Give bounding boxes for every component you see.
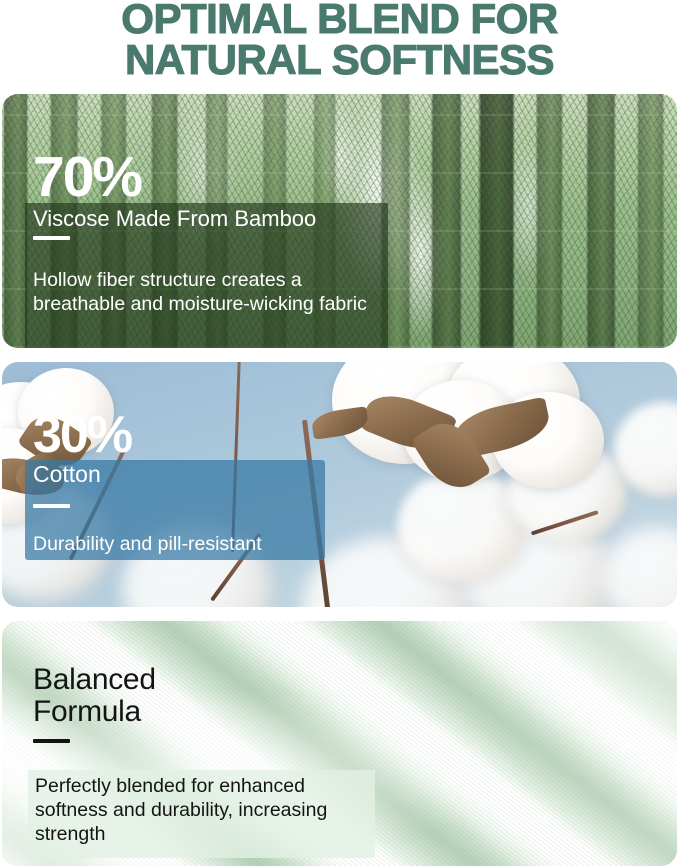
fabric-heading: Balanced Formula [33, 664, 156, 728]
cotton-description: Durability and pill-resistant [33, 533, 333, 557]
bamboo-subtitle: Viscose Made From Bamboo [33, 208, 316, 230]
bamboo-percent: 70% [33, 149, 141, 206]
fabric-divider-rule [33, 739, 70, 743]
infographic-page: OPTIMAL BLEND FOR NATURAL SOFTNESS 70% V… [0, 0, 679, 866]
bamboo-divider-rule [33, 236, 70, 240]
fabric-heading-line-1: Balanced [33, 664, 156, 696]
fabric-description: Perfectly blended for enhanced softness … [35, 775, 375, 846]
cotton-divider-rule [33, 504, 70, 508]
cotton-percent: 30% [33, 409, 131, 461]
cotton-subtitle: Cotton [33, 463, 101, 486]
page-title: OPTIMAL BLEND FOR NATURAL SOFTNESS [0, 0, 679, 80]
page-title-line-2: NATURAL SOFTNESS [0, 39, 679, 80]
page-title-line-1: OPTIMAL BLEND FOR [0, 0, 679, 39]
bamboo-description: Hollow fiber structure creates a breatha… [33, 269, 379, 317]
fabric-heading-line-2: Formula [33, 696, 156, 728]
